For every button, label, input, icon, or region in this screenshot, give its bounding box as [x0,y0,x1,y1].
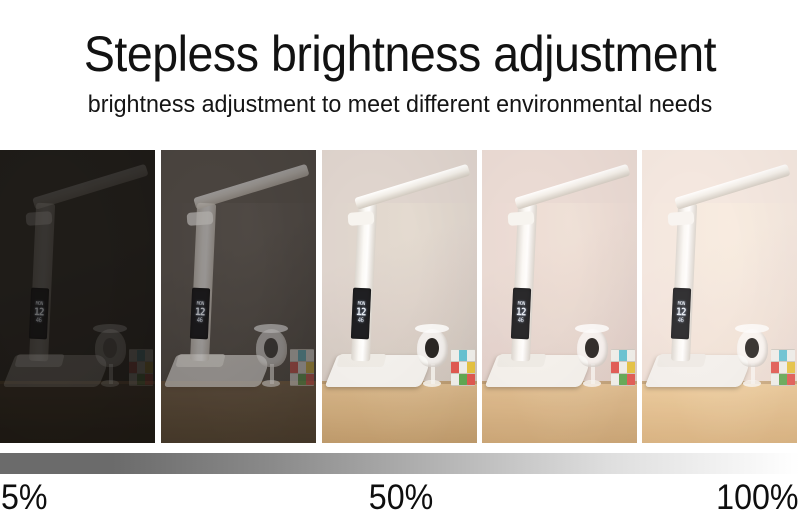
cube-sticker [787,350,794,361]
cube-sticker [129,374,136,385]
page-title: Stepless brightness adjustment [28,0,772,82]
cube-sticker [467,350,474,361]
desk-surface [642,381,797,443]
lcd-secondary-text: 46 [518,318,524,325]
glass-dark-content [103,338,117,359]
glass-stem [591,364,595,385]
glass-stem [431,364,435,385]
glass-dark-content [585,338,599,359]
cube-sticker [467,374,474,385]
lamp-lcd-display: MON1246 [511,287,531,339]
lamp-lcd-display: MON1246 [29,287,49,339]
cube-sticker [137,350,144,361]
panel-5-percent: MON1246 [0,150,155,443]
percent-label-mid: 50% [369,477,433,519]
cube-sticker [619,362,626,373]
lamp-hinge-joint [26,211,53,226]
cube-sticker [145,362,152,373]
desk-surface [482,381,637,443]
cube-sticker [298,362,305,373]
cube-sticker [298,350,305,361]
panel-75-percent: MON1246 [482,150,637,443]
percent-label-low: 5% [1,477,48,519]
cube-sticker [306,362,313,373]
cube-sticker [459,350,466,361]
cube-sticker [627,362,634,373]
lamp-lcd-display: MON1246 [190,287,210,339]
lcd-secondary-text: 46 [197,318,203,325]
lamp-lcd-display: MON1246 [671,287,691,339]
rubiks-cube [451,349,476,386]
cube-sticker [129,350,136,361]
header: Stepless brightness adjustment brightnes… [0,0,800,119]
lamp-lcd-display: MON1246 [351,287,371,339]
cube-sticker [451,374,458,385]
lcd-secondary-text: 46 [36,318,42,325]
cube-sticker [611,374,618,385]
lamp-hinge-joint [187,211,214,226]
cube-sticker [129,362,136,373]
cube-sticker [451,350,458,361]
cube-sticker [145,350,152,361]
cube-sticker [290,374,297,385]
cube-sticker [779,374,786,385]
lcd-secondary-text: 46 [678,318,684,325]
cube-sticker [467,362,474,373]
rubiks-cube [771,349,796,386]
lamp-scene: MON1246 [0,150,155,443]
glass-dark-content [264,338,278,359]
cube-sticker [627,350,634,361]
cube-sticker [787,362,794,373]
cube-sticker [611,350,618,361]
lamp-scene: MON1246 [322,150,477,443]
cube-sticker [611,362,618,373]
cube-sticker [787,374,794,385]
cube-sticker [145,374,152,385]
desk-surface [322,381,477,443]
desk-surface [161,381,316,443]
cube-sticker [137,362,144,373]
glass-stem [270,364,274,385]
cube-sticker [290,350,297,361]
lamp-scene: MON1246 [642,150,797,443]
panel-50-percent: MON1246 [322,150,477,443]
glass-stem [751,364,755,385]
lamp-hinge-joint [508,211,535,226]
cube-sticker [779,362,786,373]
rubiks-cube [290,349,315,386]
cube-sticker [298,374,305,385]
brightness-panel-strip: MON1246MON1246MON1246MON1246MON1246 [0,150,800,443]
glass-dark-content [425,338,439,359]
cube-sticker [451,362,458,373]
rubiks-cube [129,349,154,386]
percent-label-high: 100% [717,477,799,519]
cube-sticker [771,362,778,373]
cube-sticker [771,374,778,385]
brightness-gradient-bar [0,453,800,474]
desk-surface [0,381,155,443]
cube-sticker [306,350,313,361]
cube-sticker [290,362,297,373]
lamp-hinge-joint [668,211,695,226]
lamp-hinge-joint [348,211,375,226]
lcd-secondary-text: 46 [358,318,364,325]
panel-100-percent: MON1246 [642,150,797,443]
cube-sticker [137,374,144,385]
cube-sticker [627,374,634,385]
cube-sticker [619,374,626,385]
gradient-bar-fill [0,453,800,474]
cube-sticker [619,350,626,361]
lamp-scene: MON1246 [161,150,316,443]
page-subtitle: brightness adjustment to meet different … [20,82,780,119]
panel-25-percent: MON1246 [161,150,316,443]
rubiks-cube [611,349,636,386]
cube-sticker [459,362,466,373]
cube-sticker [459,374,466,385]
percent-label-row: 5% 50% 100% [0,477,800,522]
glass-stem [109,364,113,385]
cube-sticker [779,350,786,361]
lamp-scene: MON1246 [482,150,637,443]
cube-sticker [306,374,313,385]
cube-sticker [771,350,778,361]
glass-dark-content [745,338,759,359]
